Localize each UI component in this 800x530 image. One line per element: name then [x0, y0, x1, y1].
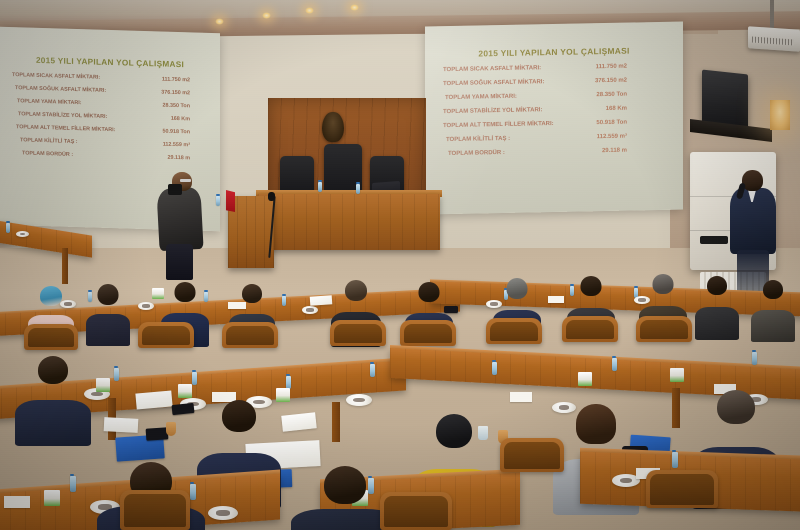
plate	[302, 306, 318, 314]
water-bottle	[318, 182, 322, 192]
dais-chair	[280, 156, 314, 194]
attendee	[84, 284, 132, 338]
chair-seat	[334, 324, 382, 343]
chair	[222, 322, 278, 348]
attendee-torso	[695, 307, 739, 340]
water-bottle	[216, 196, 220, 206]
napkin	[548, 296, 564, 303]
tissue-box	[578, 372, 592, 386]
slide-right-row: TOPLAM ALT TEMEL FİLLER MİKTARI: 50.918 …	[433, 119, 675, 130]
tissue-box	[96, 378, 110, 392]
wall-lamp-icon	[770, 100, 790, 130]
attendee	[750, 280, 796, 334]
chair	[400, 320, 456, 346]
attendee-head	[717, 390, 755, 424]
attendee-head	[419, 282, 440, 302]
camera-icon	[168, 184, 182, 195]
slide-left-title: 2015 YILI YAPILAN YOL ÇALIŞMASI	[8, 55, 212, 70]
chair	[562, 316, 618, 342]
slide-right-row-label: TOPLAM ALT TEMEL FİLLER MİKTARI:	[443, 121, 554, 129]
chair	[636, 316, 692, 342]
chair-seat	[640, 320, 688, 339]
ceiling-spot-light	[215, 18, 224, 25]
slide-left-row: TOPLAM YAMA MİKTARI: 28.350 Ton	[8, 98, 212, 110]
document-page	[104, 417, 139, 433]
slide-left-row: TOPLAM ALT TEMEL FİLLER MİKTARI: 50.918 …	[8, 124, 212, 136]
tissue-box	[178, 384, 192, 398]
attendee-head	[576, 404, 616, 444]
napkin	[510, 392, 532, 402]
tissue-box	[670, 368, 684, 382]
slide-left-row-value: 29.118 m	[168, 155, 206, 162]
document-page	[135, 390, 172, 409]
attendee-head	[98, 284, 119, 305]
slide-right-row-value: 50.918 Ton	[596, 119, 661, 126]
turkish-flag-icon	[226, 190, 235, 212]
attendee-torso	[751, 310, 795, 342]
attendee-head	[40, 286, 62, 306]
chair-seat	[404, 324, 452, 343]
water-bottle	[752, 352, 757, 365]
chair	[646, 470, 718, 508]
slide-left-row-value: 111.750 m2	[162, 77, 206, 84]
slide-right-row-label: TOPLAM YAMA MİKTARI:	[445, 94, 517, 101]
ceiling-spot-light	[262, 12, 271, 19]
attendee-head	[345, 280, 367, 301]
slide-left-row: TOPLAM STABİLİZE YOL MİKTARI: 168 Km	[8, 111, 212, 123]
table-leg	[332, 402, 340, 442]
slide-right-rows: TOPLAM SICAK ASFALT MİKTARI: 111.750 m2 …	[433, 63, 675, 158]
chair-seat	[504, 442, 560, 469]
chair	[500, 438, 564, 472]
water-bottle	[672, 452, 678, 468]
chair-seat	[28, 328, 74, 347]
attendee-head	[242, 284, 262, 303]
attendee-head	[38, 356, 68, 384]
table-leg	[672, 388, 680, 428]
attendee-head	[763, 280, 783, 299]
projector-mount	[770, 0, 774, 28]
attendee	[694, 276, 740, 332]
chair	[24, 324, 78, 350]
slide-right-row-value: 376.150 m2	[595, 77, 661, 84]
presenter-legs	[166, 244, 193, 280]
slide-right-row-label: TOPLAM KİLİTLİ TAŞ :	[446, 136, 510, 143]
ac-grille	[700, 236, 728, 244]
slide-right-row-label: TOPLAM BORDÜR :	[448, 150, 505, 157]
attendee-head	[581, 276, 602, 296]
slide-left-row-label: TOPLAM SOĞUK ASFALT MİKTARI:	[15, 85, 106, 94]
slide-right-row-label: TOPLAM STABİLİZE YOL MİKTARI:	[443, 107, 542, 115]
water-bottle	[282, 296, 286, 306]
presenter-with-camera	[150, 172, 210, 277]
attendee-head-hijab	[436, 414, 472, 448]
plate	[346, 394, 372, 406]
slide-right-row: TOPLAM STABİLİZE YOL MİKTARI: 168 Km	[433, 105, 675, 116]
eyeglasses-icon	[180, 179, 191, 182]
projection-screen-right: 2015 YILI YAPILAN YOL ÇALIŞMASI TOPLAM S…	[425, 22, 683, 215]
slide-right-row: TOPLAM SOĞUK ASFALT MİKTARI: 376.150 m2	[433, 77, 675, 88]
attendee-torso	[86, 314, 130, 346]
chair-seat	[490, 322, 538, 341]
slide-right-row-label: TOPLAM SICAK ASFALT MİKTARI:	[443, 65, 541, 73]
attendee-head	[324, 466, 366, 504]
document-page	[310, 295, 333, 306]
slide-right-row-value: 29.118 m	[602, 147, 661, 154]
slide-left-row-label: TOPLAM YAMA MİKTARI:	[17, 98, 82, 106]
slide-left-row-label: TOPLAM SICAK ASFALT MİKTARI:	[12, 72, 100, 81]
attendee-head	[175, 282, 196, 302]
microphone-icon	[268, 192, 275, 201]
head-table	[258, 194, 440, 250]
slide-left-row-value: 376.150 m2	[161, 90, 206, 97]
chair	[120, 490, 190, 530]
slide-right-title: 2015 YILI YAPILAN YOL ÇALIŞMASI	[433, 45, 675, 60]
chair-seat	[566, 320, 614, 339]
chair	[138, 322, 194, 348]
water-bottle	[370, 364, 375, 377]
chair	[380, 492, 452, 530]
ceiling-spot-light	[350, 4, 359, 11]
presenter-torso	[156, 187, 203, 251]
slide-left-row: TOPLAM BORDÜR : 29.118 m	[8, 150, 212, 162]
conference-hall-photo: 2015 YILI YAPILAN YOL ÇALIŞMASI TOPLAM S…	[0, 0, 800, 530]
water-bottle	[6, 223, 10, 233]
attendee-torso	[15, 400, 91, 446]
chair-seat	[226, 326, 274, 345]
attendee-head	[222, 400, 256, 432]
plate	[16, 231, 29, 237]
slide-left-row-value: 168 Km	[171, 116, 206, 123]
water-bottle	[70, 476, 76, 492]
attendee-head	[507, 278, 528, 299]
slide-left-row-label: TOPLAM STABİLİZE YOL MİKTARI:	[18, 111, 107, 120]
slide-right-row-label: TOPLAM SOĞUK ASFALT MİKTARI:	[443, 79, 544, 87]
slide-left-row: TOPLAM KİLİTLİ TAŞ : 112.559 m³	[8, 137, 212, 149]
plate	[208, 506, 238, 520]
water-bottle	[612, 358, 617, 371]
slide-left-rows: TOPLAM SICAK ASFALT MİKTARI: 111.750 m2 …	[8, 72, 212, 162]
attendee	[14, 356, 92, 436]
slide-right-row: TOPLAM YAMA MİKTARI: 28.350 Ton	[433, 91, 675, 102]
slide-left-row-value: 50.918 Ton	[163, 129, 206, 136]
slide-left-row-value: 28.350 Ton	[163, 103, 206, 110]
water-bottle	[114, 368, 119, 381]
table-leg	[62, 248, 68, 284]
slide-left-row-label: TOPLAM ALT TEMEL FİLLER MİKTARI:	[16, 124, 115, 133]
slide-left-row-label: TOPLAM KİLİTLİ TAŞ :	[20, 137, 78, 145]
attendee-head	[707, 276, 727, 295]
chair-seat	[384, 496, 448, 527]
slide-left-row-value: 112.559 m³	[163, 142, 206, 149]
slide-right-row: TOPLAM BORDÜR : 29.118 m	[433, 147, 675, 158]
tea-glass	[166, 422, 176, 436]
water-bottle	[492, 362, 497, 375]
water-bottle	[192, 372, 197, 385]
slide-right-row-value: 28.350 Ton	[596, 91, 661, 98]
plate	[138, 302, 154, 310]
speaker-head	[742, 170, 763, 191]
chair-seat	[650, 474, 714, 505]
chair-seat	[142, 326, 190, 345]
napkin	[4, 496, 30, 508]
chair	[486, 318, 542, 344]
slide-left-row-label: TOPLAM BORDÜR :	[22, 150, 73, 158]
ceiling-spot-light	[305, 7, 314, 14]
chair	[330, 320, 386, 346]
tissue-box	[44, 490, 60, 506]
wall-emblem-icon	[322, 112, 344, 142]
slide-right-row: TOPLAM SICAK ASFALT MİKTARI: 111.750 m2	[433, 63, 675, 74]
slide-right-row-value: 168 Km	[606, 105, 661, 112]
water-bottle	[356, 184, 360, 194]
slide-right-row: TOPLAM KİLİTLİ TAŞ : 112.559 m³	[433, 133, 675, 144]
smartphone-icon	[146, 427, 169, 441]
slide-left-row: TOPLAM SICAK ASFALT MİKTARI: 111.750 m2	[8, 72, 212, 84]
slide-right-row-value: 112.559 m³	[597, 133, 661, 140]
slide-right-row-value: 111.750 m2	[596, 63, 661, 70]
slide-left-row: TOPLAM SOĞUK ASFALT MİKTARI: 376.150 m2	[8, 85, 212, 97]
attendee-head	[653, 274, 674, 294]
chair-seat	[124, 494, 186, 527]
